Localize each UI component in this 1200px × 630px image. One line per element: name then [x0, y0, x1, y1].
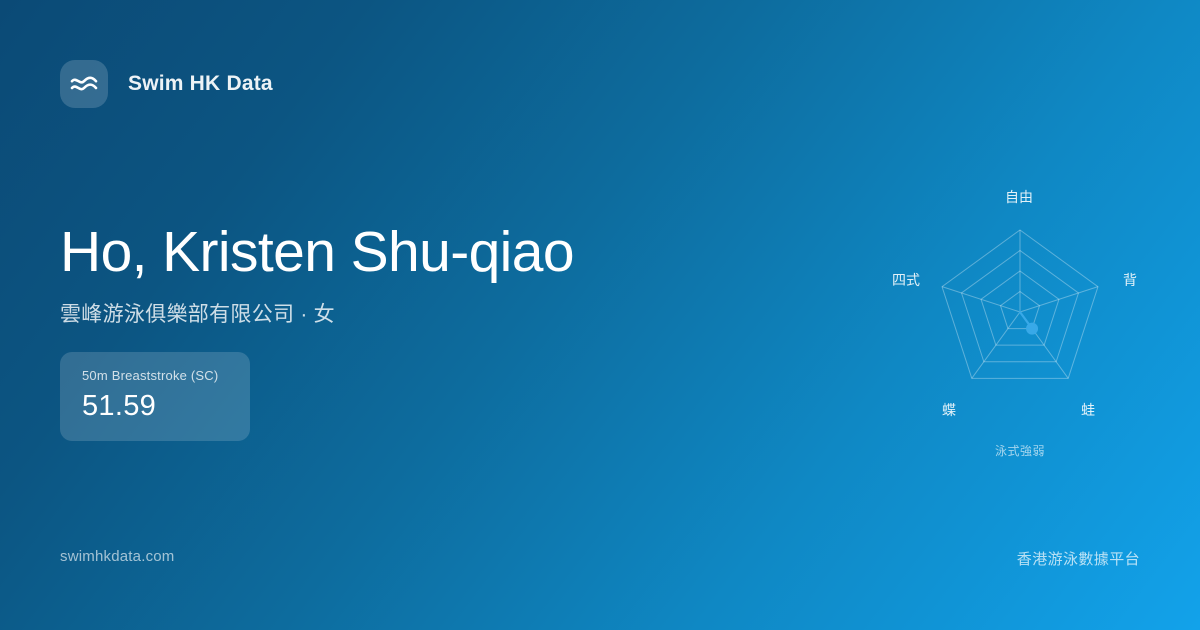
radar-label-butterfly: 蝶: [942, 400, 956, 420]
best-time-value: 51.59: [82, 390, 228, 423]
radar-data-point-breaststroke: [1026, 323, 1038, 335]
stroke-strength-radar: 自由 背 蛙 蝶 四式 泳式強弱: [870, 165, 1170, 475]
footer-tagline: 香港游泳數據平台: [1017, 548, 1140, 569]
radar-label-breaststroke: 蛙: [1081, 400, 1095, 420]
radar-caption: 泳式強弱: [870, 442, 1170, 459]
athlete-hero: Ho, Kristen Shu-qiao 雲峰游泳俱樂部有限公司·女: [60, 222, 680, 328]
athlete-meta: 雲峰游泳俱樂部有限公司·女: [60, 298, 680, 328]
radar-label-im: 四式: [892, 270, 920, 290]
best-time-card: 50m Breaststroke (SC) 51.59: [60, 352, 250, 441]
wave-icon: [60, 60, 108, 108]
meta-separator: ·: [294, 303, 313, 326]
athlete-gender: 女: [314, 303, 335, 326]
athlete-club: 雲峰游泳俱樂部有限公司: [60, 303, 294, 326]
radar-spoke-1: [1020, 287, 1098, 312]
radar-label-backstroke: 背: [1123, 270, 1137, 290]
page-title: Ho, Kristen Shu-qiao: [60, 222, 680, 284]
radar-svg: [870, 165, 1170, 475]
radar-spoke-4: [942, 287, 1020, 312]
best-time-event-label: 50m Breaststroke (SC): [82, 368, 228, 383]
share-card: Swim HK Data Ho, Kristen Shu-qiao 雲峰游泳俱樂…: [0, 0, 1200, 630]
brand-header: Swim HK Data: [60, 60, 273, 108]
brand-name: Swim HK Data: [128, 72, 273, 96]
footer-site: swimhkdata.com: [60, 548, 175, 565]
radar-label-freestyle: 自由: [1005, 187, 1033, 207]
